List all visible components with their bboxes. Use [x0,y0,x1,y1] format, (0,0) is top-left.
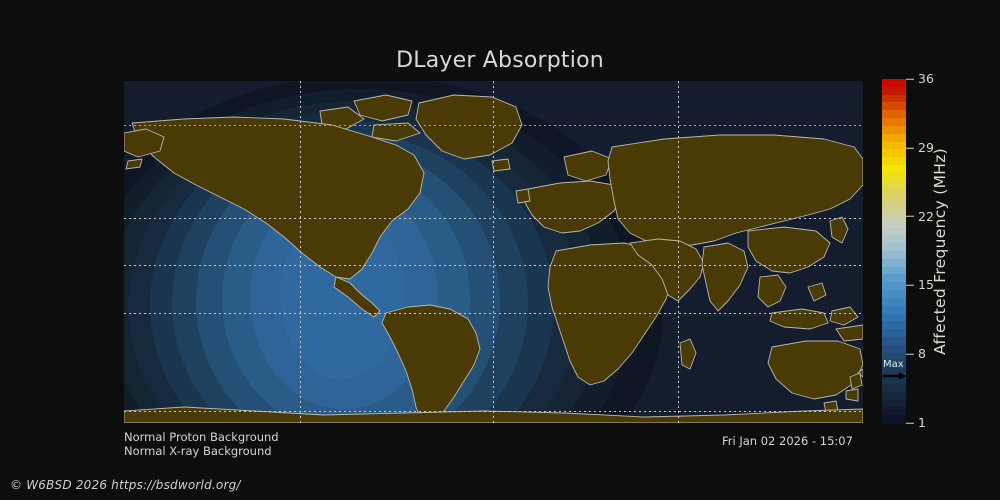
xray-status: Normal X-ray Background [124,444,272,458]
colorbar-tick-mark [906,216,914,217]
colorbar-title-label: Affected Frequency (MHz) [931,148,949,355]
colorbar-tick-mark [906,147,914,148]
max-arrow-icon [883,372,907,380]
colorbar-tick: 8 [906,348,926,361]
proton-status: Normal Proton Background [124,430,279,444]
colorbar-tick-mark [906,79,914,80]
colorbar-tick: 1 [906,417,926,430]
colorbar-tick-mark [906,354,914,355]
max-marker: Max [882,360,942,382]
dlayer-absorption-screen: DLayer Absorption [0,0,1000,500]
map-canvas [124,81,863,423]
colorbar-tick-mark [906,285,914,286]
colorbar-tick-mark [906,423,914,424]
colorbar-segment [882,415,906,423]
max-marker-label: Max [883,360,904,370]
page-title: DLayer Absorption [0,48,1000,73]
copyright-notice: © W6BSD 2026 https://bsdworld.org/ [10,478,241,492]
world-map[interactable] [124,81,863,423]
colorbar-tick-label: 1 [918,417,926,430]
colorbar-tick-label: 8 [918,348,926,361]
timestamp: Fri Jan 02 2026 - 15:07 [722,434,853,448]
